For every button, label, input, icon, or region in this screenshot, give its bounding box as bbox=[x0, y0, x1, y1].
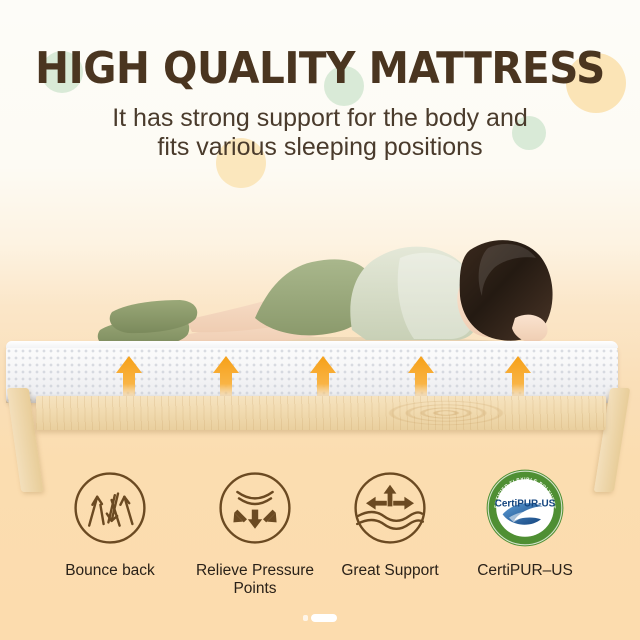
subheadline-line-2: fits various sleeping positions bbox=[0, 133, 640, 162]
support-arrow-4 bbox=[406, 355, 436, 401]
bounce-back-arrows-icon bbox=[70, 468, 150, 548]
feature-relieve-pressure-points[interactable]: Relieve Pressure Points bbox=[180, 468, 330, 597]
mattress bbox=[6, 341, 618, 403]
certipur-center-text: CertiPUR-US bbox=[495, 498, 556, 509]
support-arrow-3 bbox=[308, 355, 338, 401]
feature-label: Great Support bbox=[315, 562, 465, 580]
support-arrow-5 bbox=[503, 355, 533, 401]
support-arrow-1 bbox=[114, 355, 144, 401]
feature-label: Relieve Pressure Points bbox=[180, 562, 330, 597]
subheadline-line-1: It has strong support for the body and bbox=[0, 104, 640, 133]
feature-label: Bounce back bbox=[35, 562, 185, 580]
headline-block: HIGH QUALITY MATTRESS It has strong supp… bbox=[0, 46, 640, 162]
feature-bounce-back[interactable]: Bounce back bbox=[35, 468, 185, 580]
pagination-indicator[interactable] bbox=[0, 609, 640, 627]
certipur-us-badge-icon: CONTAINS CERTIFIED FLEXIBLE POLYURETHANE… bbox=[485, 468, 565, 548]
wood-grain-knot bbox=[381, 399, 511, 427]
page-title: HIGH QUALITY MATTRESS bbox=[26, 46, 615, 92]
pagination-dot[interactable] bbox=[303, 615, 308, 621]
pressure-relief-arrows-icon bbox=[215, 468, 295, 548]
pagination-active-bar[interactable] bbox=[311, 614, 337, 622]
bed-frame-rail bbox=[36, 396, 606, 430]
feature-great-support[interactable]: Great Support bbox=[315, 468, 465, 580]
product-banner: HIGH QUALITY MATTRESS It has strong supp… bbox=[0, 0, 640, 640]
support-arrow-2 bbox=[211, 355, 241, 401]
mattress-top-edge bbox=[6, 341, 618, 348]
feature-label: CertiPUR–US bbox=[450, 562, 600, 580]
feature-certipur-us[interactable]: CONTAINS CERTIFIED FLEXIBLE POLYURETHANE… bbox=[450, 468, 600, 580]
support-arrows-wave-icon bbox=[350, 468, 430, 548]
subheadline: It has strong support for the body and f… bbox=[0, 104, 640, 162]
